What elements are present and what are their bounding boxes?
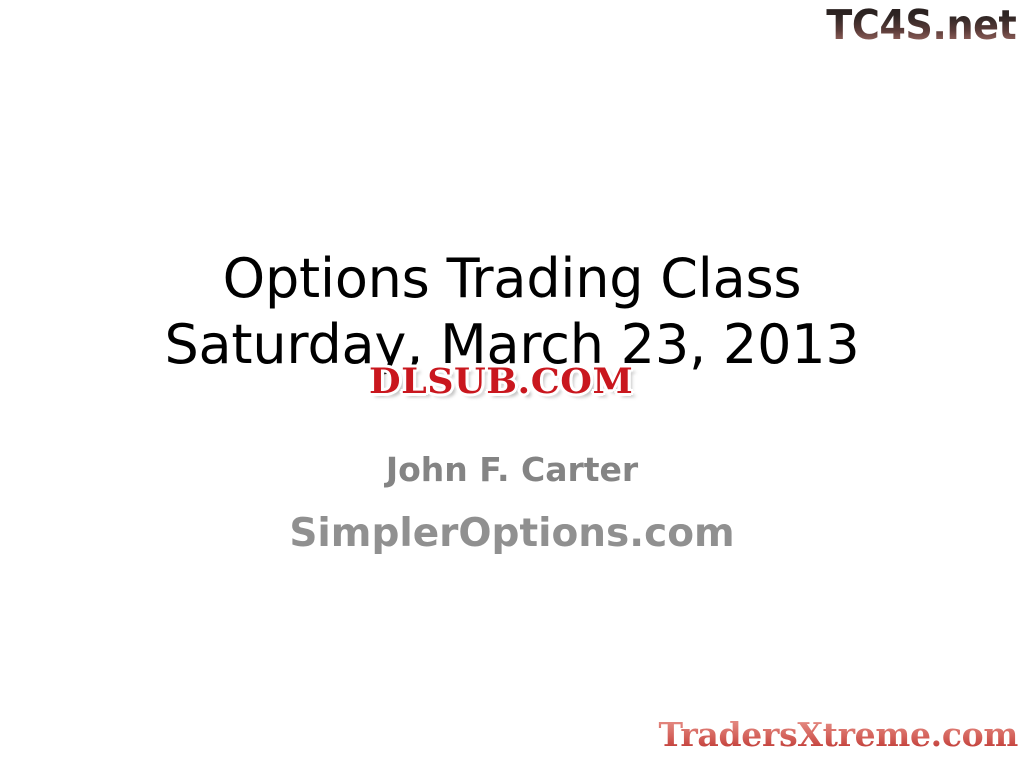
slide-subtitle: John F. Carter SimplerOptions.com xyxy=(0,446,1024,562)
title-line-1: Options Trading Class xyxy=(0,246,1024,312)
presenter-website: SimplerOptions.com xyxy=(0,506,1024,562)
tradersxtreme-logo-stack: TradersXtreme.com TradersXtreme.com xyxy=(658,716,1018,754)
tradersxtreme-logo-fill: TradersXtreme.com xyxy=(658,715,1018,754)
slide-title: Options Trading Class Saturday, March 23… xyxy=(0,246,1024,378)
presenter-name: John F. Carter xyxy=(0,446,1024,494)
tradersxtreme-com-logo: TradersXtreme.com TradersXtreme.com xyxy=(658,716,1018,754)
dlsub-com-watermark: DLSUB.COM xyxy=(369,361,633,403)
tc4s-net-logo: TC4S.net xyxy=(826,2,1016,48)
presentation-slide: TC4S.net Options Trading Class Saturday,… xyxy=(0,0,1024,768)
